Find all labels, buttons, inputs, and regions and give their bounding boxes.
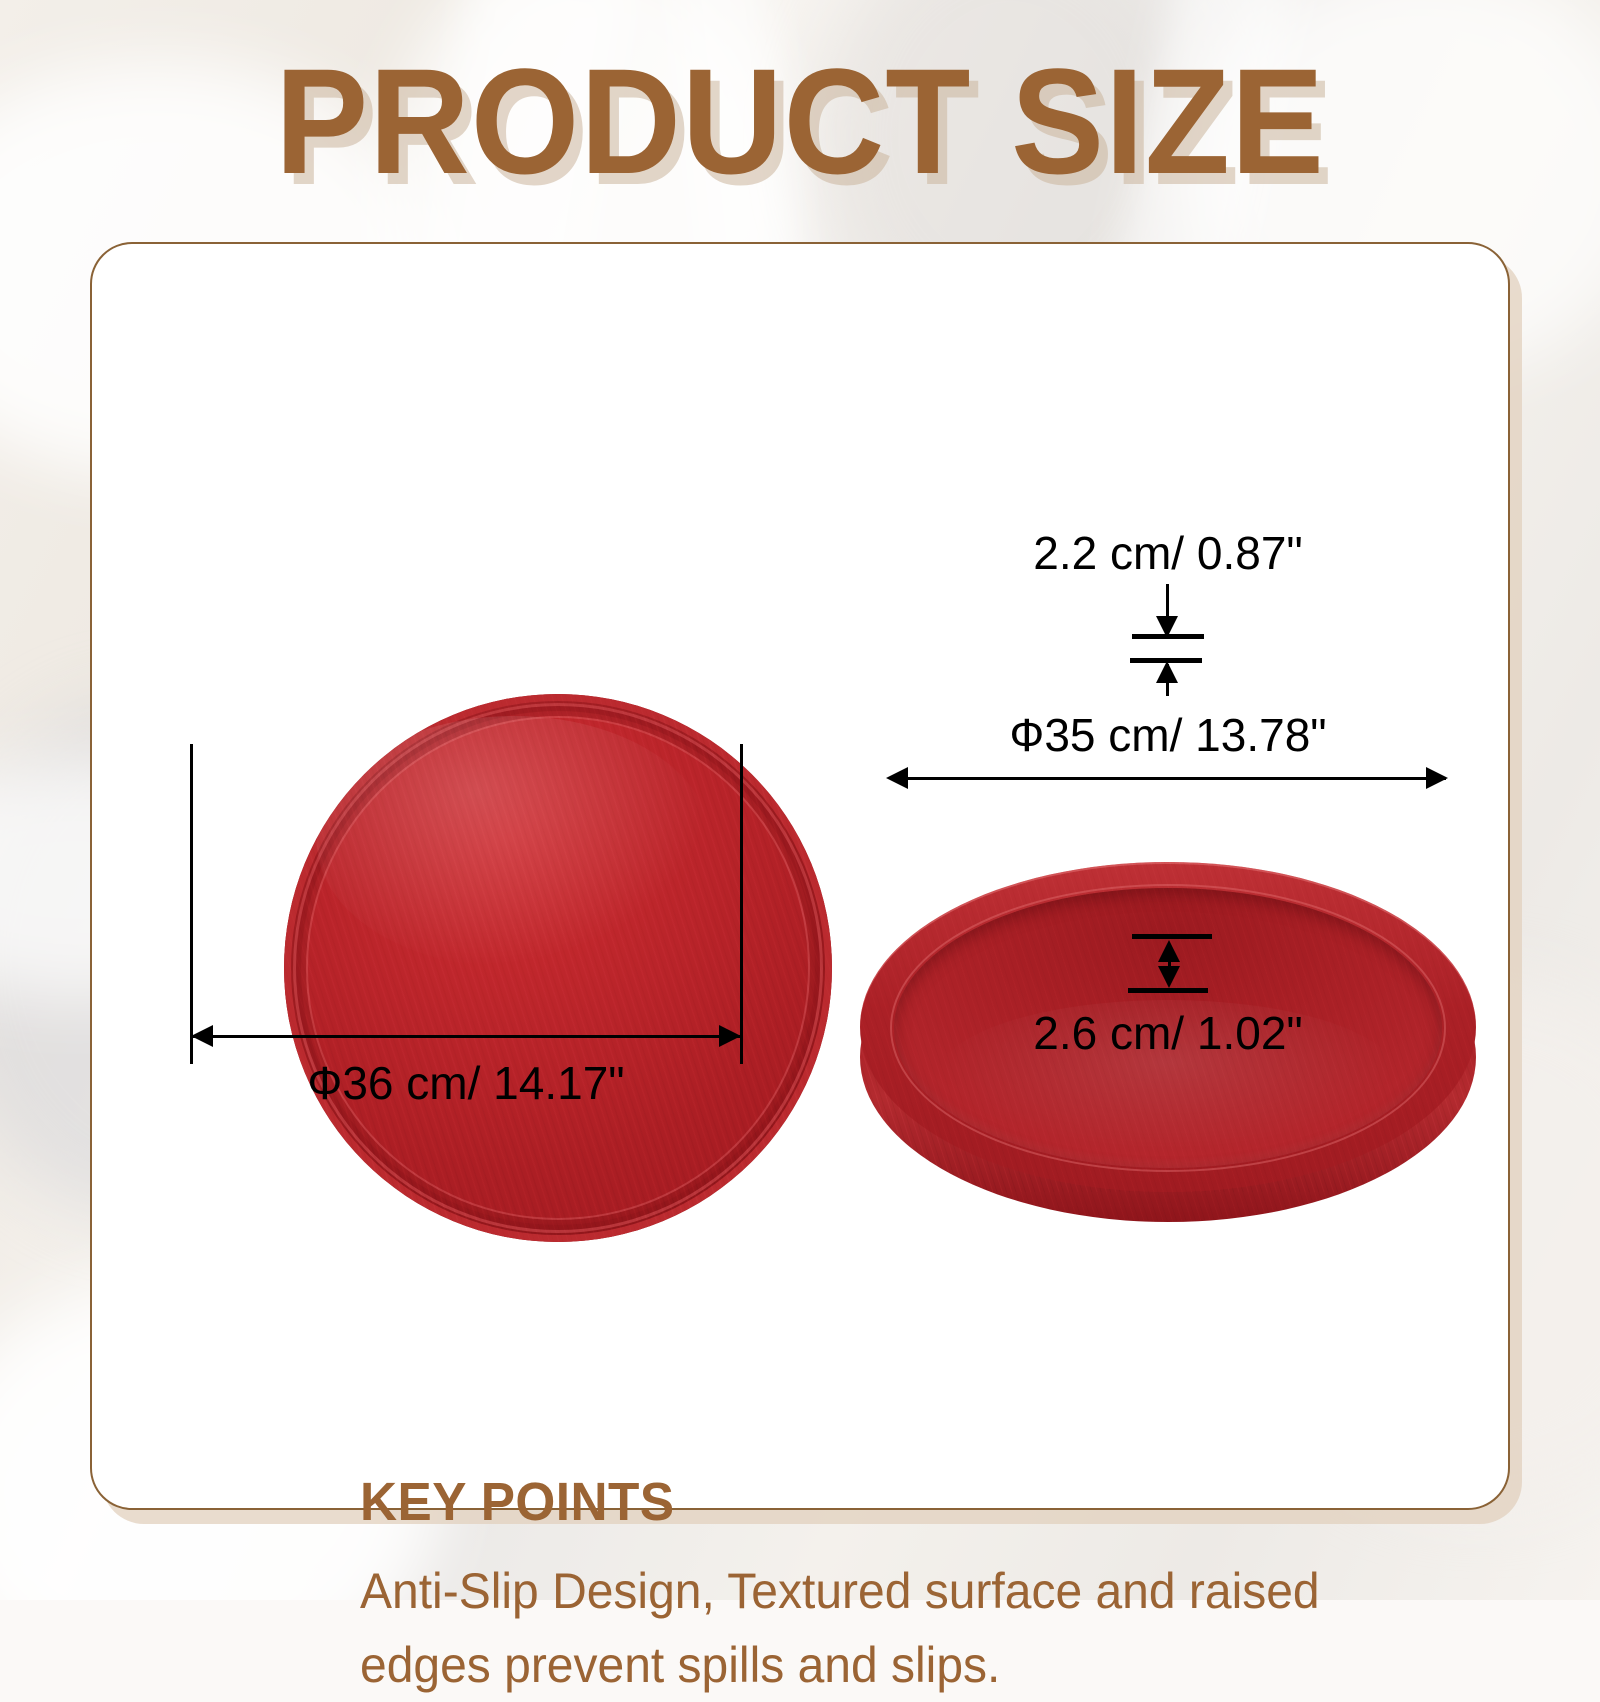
dimension-label-wall-thickness: 2.6 cm/ 1.02" <box>860 1010 1476 1056</box>
arrow-down <box>1158 966 1180 988</box>
key-points-section: KEY POINTS Anti-Slip Design, Textured su… <box>360 1472 1480 1702</box>
arrow-right <box>719 1025 741 1047</box>
dimension-label-rim-height: 2.2 cm/ 0.87" <box>860 530 1476 576</box>
wood-grain-texture <box>306 716 810 1220</box>
tray-top-view-image <box>284 694 832 1242</box>
dimension-label-inner-diameter: Ф35 cm/ 13.78" <box>860 712 1476 758</box>
tray-disc <box>284 694 832 1242</box>
content-card: Ф36 cm/ 14.17" 2.2 cm/ 0.87" Ф35 cm/ 13.… <box>90 242 1510 1510</box>
tick-wall-bottom <box>1128 988 1208 993</box>
key-points-body: Anti-Slip Design, Textured surface and r… <box>360 1554 1435 1702</box>
extension-line-right <box>740 744 743 1064</box>
extension-line-left <box>190 744 193 1064</box>
arrow-left <box>191 1025 213 1047</box>
dimension-label-outer-diameter: Ф36 cm/ 14.17" <box>200 1060 732 1106</box>
tray-inner-surface <box>306 716 810 1220</box>
arrow-up <box>1156 661 1178 683</box>
key-points-heading: KEY POINTS <box>360 1472 1424 1532</box>
dimension-bar <box>191 1035 741 1038</box>
arrow-right <box>1426 767 1448 789</box>
page-title: PRODUCT SIZE <box>56 46 1544 196</box>
tick-rim-top <box>1132 634 1204 639</box>
tick-wall-top <box>1132 934 1212 939</box>
dimension-bar-inner <box>890 777 1446 780</box>
arrow-left <box>886 767 908 789</box>
